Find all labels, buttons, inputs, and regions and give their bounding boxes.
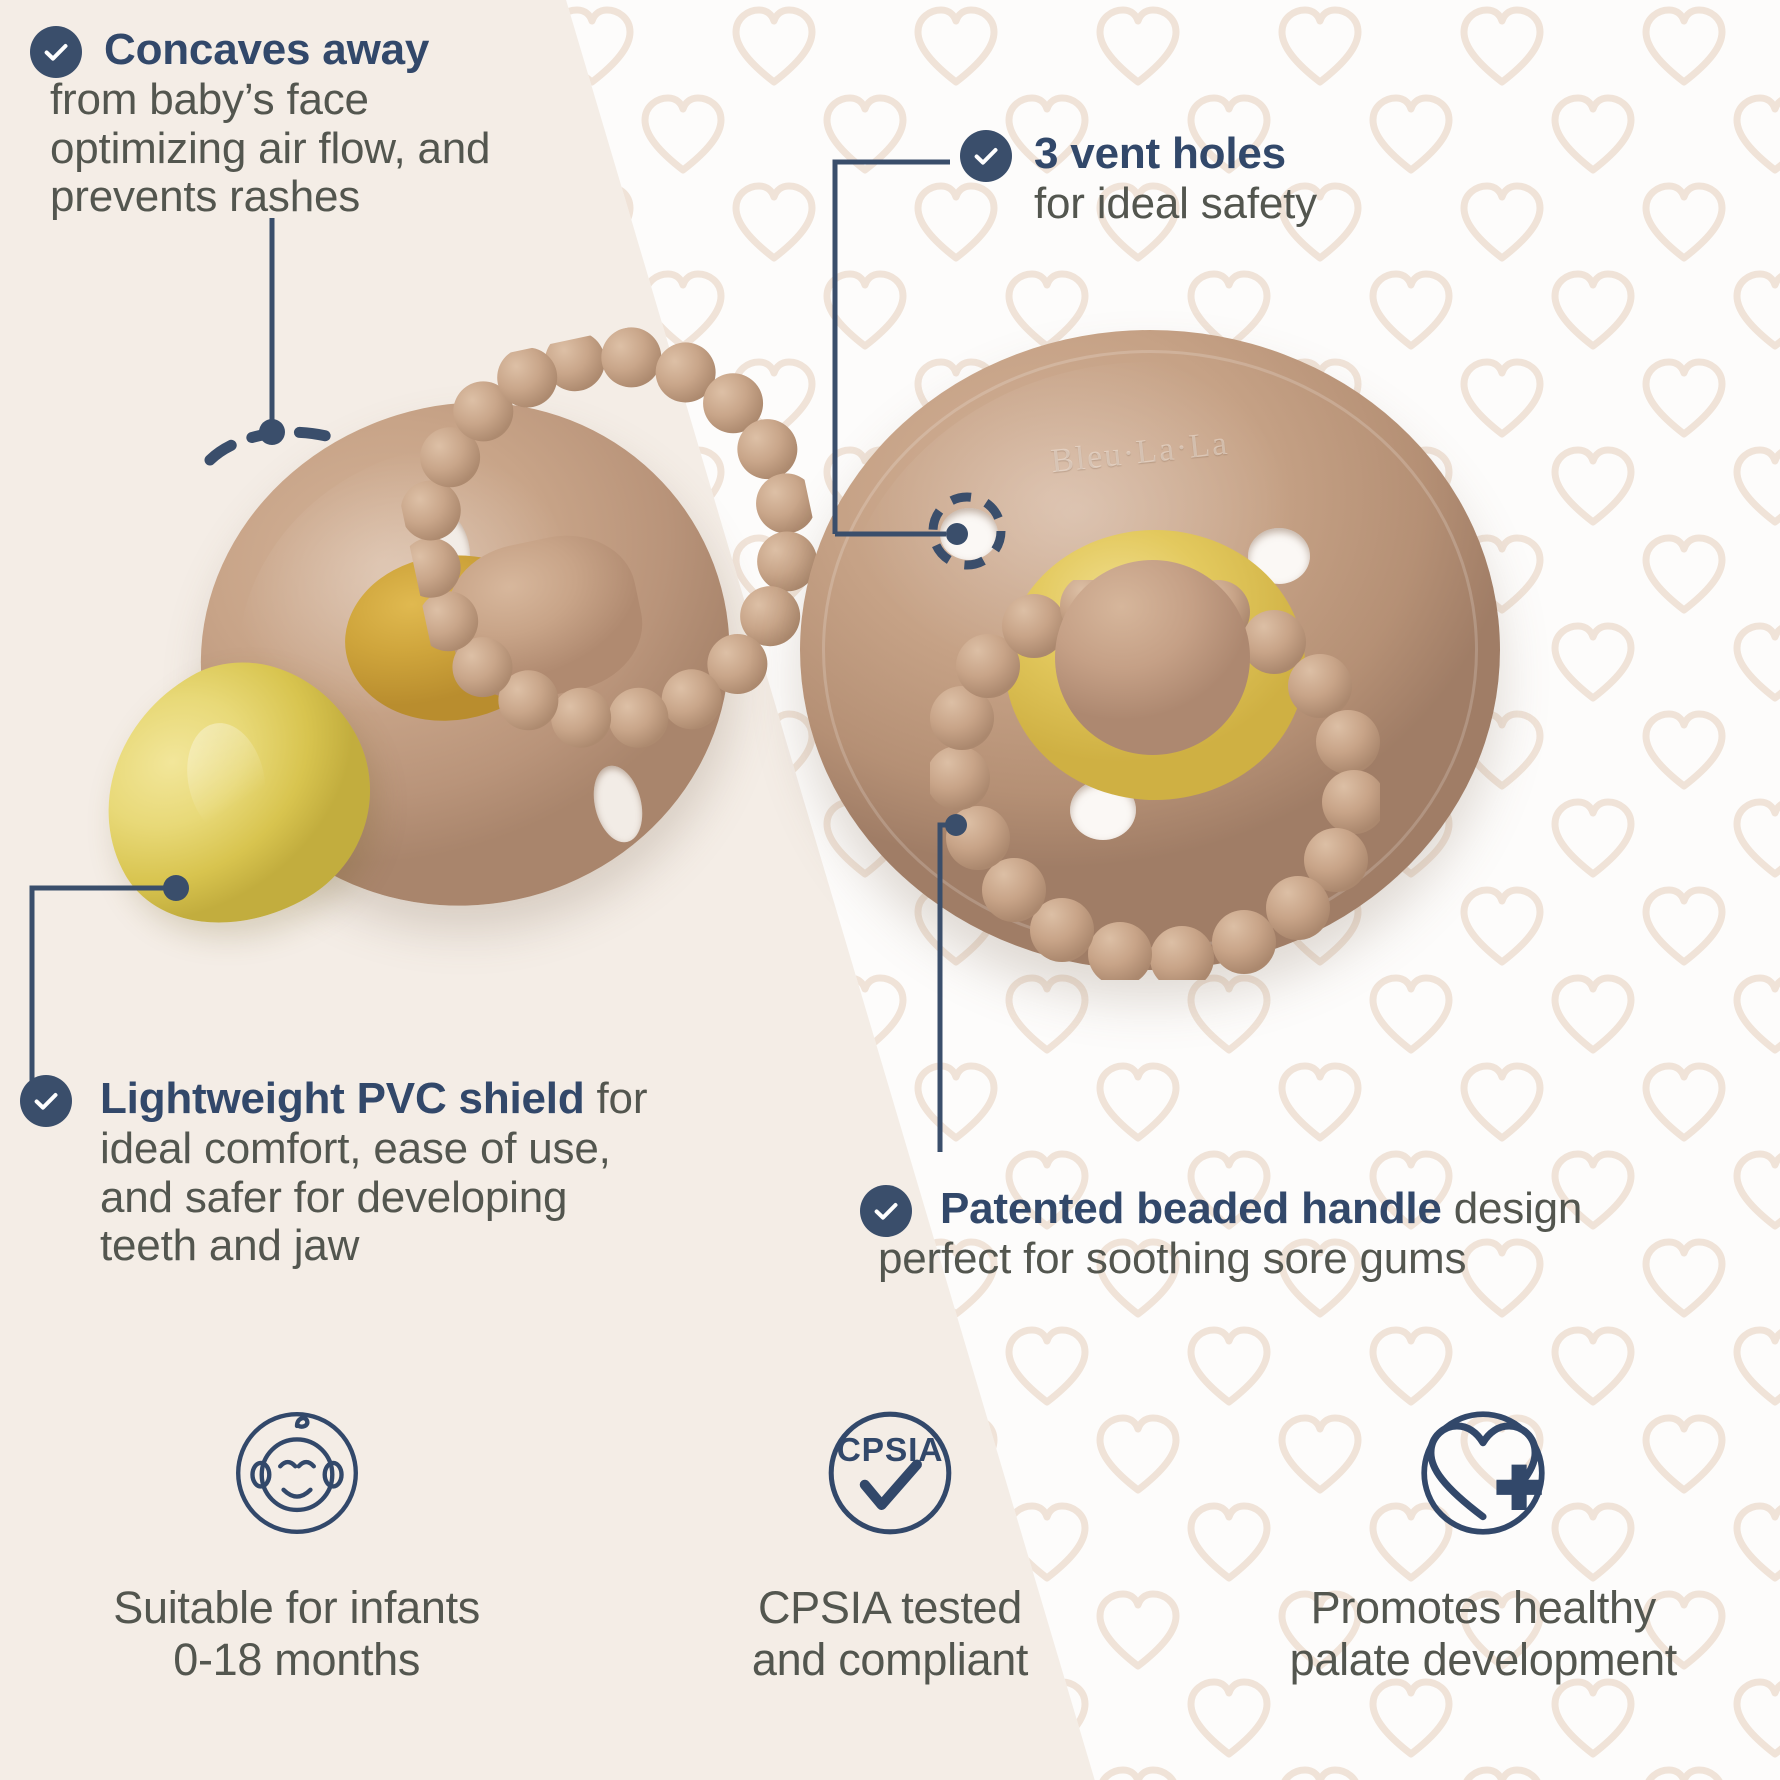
callout-line: from baby’s face (50, 76, 670, 124)
callout-vent-holes: 3 vent holes for ideal safety (960, 130, 1720, 229)
pacifier-angled-view (95, 345, 825, 965)
infographic-canvas: Bleu·La·La (0, 0, 1780, 1780)
badge-label-line: Suitable for infants (37, 1582, 557, 1634)
callout-bold-tail: for (585, 1074, 648, 1123)
callout-line: prevents rashes (50, 173, 670, 221)
badge-infants-age: Suitable for infants 0-18 months (37, 1385, 557, 1686)
callout-line: and safer for developing (100, 1174, 740, 1222)
callout-line: ideal comfort, ease of use, (100, 1125, 740, 1173)
callout-bold-pvc: Lightweight PVC shield (100, 1074, 585, 1123)
heart-plus-icon (1223, 1385, 1743, 1560)
badge-label-line: Promotes healthy (1223, 1582, 1743, 1634)
check-circle-icon (960, 130, 1012, 182)
callout-concaves-away: Concaves away from baby’s face optimizin… (30, 26, 670, 222)
badge-label-line: 0-18 months (37, 1634, 557, 1686)
cpsia-seal-icon: CPSIA (630, 1385, 1150, 1560)
pacifier-center-knob-right (1055, 560, 1250, 755)
check-circle-icon (30, 26, 82, 78)
callout-bold-handle: Patented beaded handle (940, 1184, 1442, 1233)
callout-line: perfect for soothing sore gums (878, 1235, 1770, 1283)
callout-pvc-shield: Lightweight PVC shield for ideal comfort… (20, 1075, 740, 1271)
cpsia-seal-text: CPSIA (837, 1432, 944, 1469)
callout-bold-concaves: Concaves away (104, 25, 429, 74)
badge-label-line: and compliant (630, 1634, 1150, 1686)
callout-beaded-handle: Patented beaded handle design perfect fo… (860, 1185, 1770, 1284)
callout-line: optimizing air flow, and (50, 125, 670, 173)
baby-face-icon (37, 1385, 557, 1560)
pacifier-front-view: Bleu·La·La (800, 330, 1520, 990)
badge-palate: Promotes healthy palate development (1223, 1385, 1743, 1686)
check-circle-icon (20, 1075, 72, 1127)
callout-line: teeth and jaw (100, 1222, 740, 1270)
badge-cpsia: CPSIA CPSIA tested and compliant (630, 1385, 1150, 1686)
trust-badge-row: Suitable for infants 0-18 months CPSIA C… (0, 1385, 1780, 1765)
badge-label-line: CPSIA tested (630, 1582, 1150, 1634)
callout-bold-vent: 3 vent holes (1034, 129, 1286, 178)
callout-line: for ideal safety (1034, 180, 1720, 228)
check-circle-icon (860, 1185, 912, 1237)
callout-bold-tail: design (1442, 1184, 1582, 1233)
vent-hole-right-a (940, 508, 998, 560)
badge-label-line: palate development (1223, 1634, 1743, 1686)
